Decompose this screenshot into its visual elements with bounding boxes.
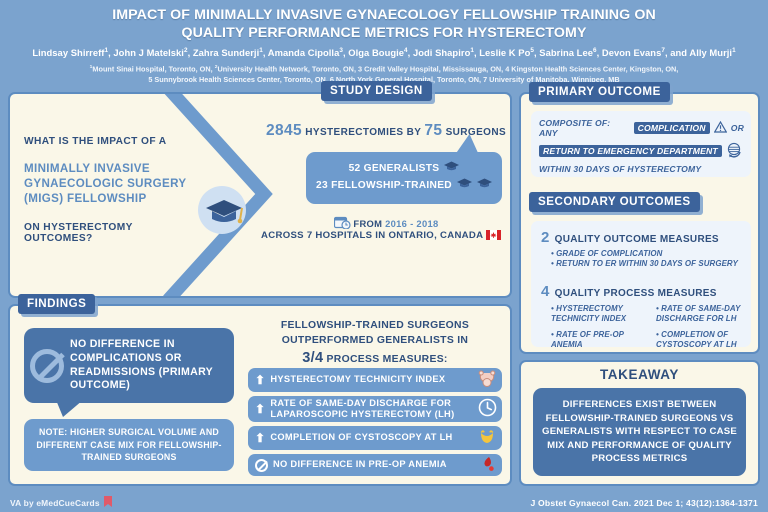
primary-outcome-box: COMPOSITE OF: ANY COMPLICATION OR RETURN…: [531, 111, 751, 177]
footer-credit: VA by eMedCueCards: [10, 496, 112, 509]
graduation-cap-icon: [477, 178, 492, 195]
generalists-row: 52 GENERALISTS: [349, 161, 460, 178]
secondary-outcomes-tab: SECONDARY OUTCOMES: [529, 192, 700, 212]
secondary-outcomes-box: 2 QUALITY OUTCOME MEASURES GRADE OF COMP…: [531, 221, 751, 347]
list-item: RETURN TO ER WITHIN 30 DAYS OF SURGERY: [551, 259, 743, 269]
study-sites: ACROSS 7 HOSPITALS IN ONTARIO, CANADA: [250, 230, 512, 243]
return-hospital-icon: [726, 142, 743, 160]
outcome-measures-title: QUALITY OUTCOME MEASURES: [555, 234, 719, 245]
list-item: COMPLETION OF CYSTOSCOPY AT LH: [656, 330, 743, 351]
poster-footer: VA by eMedCueCards J Obstet Gynaecol Can…: [0, 496, 768, 509]
bladder-icon: [476, 428, 498, 449]
surgeon-breakdown-bubble: 52 GENERALISTS 23 FELLOWSHIP-TRAINED: [306, 152, 502, 204]
poster-header: IMPACT OF MINIMALLY INVASIVE GYNAECOLOGY…: [0, 0, 768, 86]
primary-outcome-tab: PRIMARY OUTCOME: [529, 82, 670, 102]
within-30-days: WITHIN 30 DAYS OF HYSTERECTOMY: [539, 164, 701, 174]
graduation-cap-icon: [198, 186, 246, 234]
takeaway-body: DIFFERENCES EXIST BETWEEN FELLOWSHIP-TRA…: [533, 388, 746, 476]
quality-process-measures-heading: 4 QUALITY PROCESS MEASURES: [541, 283, 743, 300]
list-item: RATE OF PRE-OP ANEMIA: [551, 330, 638, 351]
measure-label: RATE OF SAME-DAY DISCHARGE FOR LAPAROSCO…: [270, 398, 471, 420]
warning-triangle-icon: [714, 121, 727, 135]
measure-label: HYSTERECTOMY TECHNICITY INDEX: [270, 374, 471, 385]
findings-heading-line-2: OUTPERFORMED GENERALISTS IN: [248, 333, 502, 348]
no-difference-text: NO DIFFERENCE IN COMPLICATIONS OR READMI…: [70, 338, 226, 393]
title-line-1: IMPACT OF MINIMALLY INVASIVE GYNAECOLOGY…: [12, 6, 756, 24]
measure-row: ⬆ COMPLETION OF CYSTOSCOPY AT LH: [248, 426, 502, 450]
list-item: HYSTERECTOMY TECHNICITY INDEX: [551, 304, 638, 325]
graduation-cap-icon: [444, 161, 459, 178]
question-emphasis: MINIMALLY INVASIVE GYNAECOLOGIC SURGERY …: [24, 162, 204, 206]
no-difference-callout: NO DIFFERENCE IN COMPLICATIONS OR READMI…: [24, 328, 234, 403]
findings-panel: FINDINGS NO DIFFERENCE IN COMPLICATIONS …: [8, 304, 512, 486]
primary-outcome-line-2: RETURN TO EMERGENCY DEPARTMENT: [539, 142, 744, 160]
author-list: Lindsay Shirreff1, John J Matelski2, Zah…: [12, 47, 756, 60]
period-years: 2016 - 2018: [385, 218, 438, 229]
blood-drop-icon: [476, 455, 498, 475]
question-lead: WHAT IS THE IMPACT OF A: [24, 136, 204, 147]
primary-outcome-line-1: COMPOSITE OF: ANY COMPLICATION OR: [539, 118, 744, 138]
study-design-tab: STUDY DESIGN: [321, 81, 432, 101]
outcome-measures-count: 2: [541, 229, 550, 246]
list-item: RATE OF SAME-DAY DISCHARGE FOR LH: [656, 304, 743, 325]
question-tail: ON HYSTERECTOMY OUTCOMES?: [24, 222, 204, 244]
fellowship-label: 23 FELLOWSHIP-TRAINED: [316, 179, 452, 194]
fellowship-row: 23 FELLOWSHIP-TRAINED: [316, 178, 492, 195]
generalists-label: 52 GENERALISTS: [349, 162, 440, 177]
study-period: FROM 2016 - 2018: [263, 216, 509, 231]
research-question: WHAT IS THE IMPACT OF A MINIMALLY INVASI…: [24, 136, 204, 244]
process-measures-count: 4: [541, 283, 550, 300]
process-measures-column-right: RATE OF SAME-DAY DISCHARGE FOR LH COMPLE…: [646, 304, 743, 351]
study-design-panel: WHAT IS THE IMPACT OF A MINIMALLY INVASI…: [8, 92, 512, 298]
arrow-up-icon: ⬆: [255, 374, 265, 386]
prohibited-icon: [30, 349, 64, 383]
process-measure-suffix: PROCESS MEASURES:: [327, 354, 448, 365]
process-measures-title: QUALITY PROCESS MEASURES: [555, 288, 717, 299]
findings-heading-line-3: 3/4 PROCESS MEASURES:: [248, 348, 502, 369]
findings-heading-line-1: FELLOWSHIP-TRAINED SURGEONS: [248, 318, 502, 333]
hysterectomy-label: HYSTERECTOMIES BY: [305, 127, 421, 138]
takeaway-panel: TAKEAWAY DIFFERENCES EXIST BETWEEN FELLO…: [519, 360, 760, 486]
findings-heading: FELLOWSHIP-TRAINED SURGEONS OUTPERFORMED…: [248, 318, 502, 369]
measure-row: NO DIFFERENCE IN PRE-OP ANEMIA: [248, 454, 502, 476]
citation: J Obstet Gynaecol Can. 2021 Dec 1; 43(12…: [530, 498, 758, 508]
list-item: GRADE OF COMPLICATION: [551, 249, 743, 259]
calendar-clock-icon: [334, 216, 351, 231]
arrow-up-icon: ⬆: [255, 432, 265, 444]
process-measures-column-left: HYSTERECTOMY TECHNICITY INDEX RATE OF PR…: [541, 304, 638, 351]
measure-label: COMPLETION OF CYSTOSCOPY AT LH: [270, 432, 471, 443]
outcomes-panel: PRIMARY OUTCOME COMPOSITE OF: ANY COMPLI…: [519, 92, 760, 354]
uterus-icon: [476, 370, 498, 391]
clock-icon: [476, 398, 498, 420]
prohibited-icon: [255, 459, 268, 472]
title-line-2: QUALITY PERFORMANCE METRICS FOR HYSTEREC…: [12, 24, 756, 42]
takeaway-title: TAKEAWAY: [521, 367, 758, 382]
measure-row: ⬆ HYSTERECTOMY TECHNICITY INDEX: [248, 368, 502, 392]
composite-prefix: COMPOSITE OF: ANY: [539, 118, 630, 138]
return-ed-highlight: RETURN TO EMERGENCY DEPARTMENT: [539, 145, 722, 157]
findings-note: NOTE: HIGHER SURGICAL VOLUME AND DIFFERE…: [24, 419, 234, 471]
quality-process-measures-list: HYSTERECTOMY TECHNICITY INDEX RATE OF PR…: [541, 304, 743, 351]
quality-outcome-measures-list: GRADE OF COMPLICATION RETURN TO ER WITHI…: [541, 249, 743, 270]
findings-tab: FINDINGS: [18, 294, 95, 314]
measure-label: NO DIFFERENCE IN PRE-OP ANEMIA: [273, 459, 471, 470]
bubble-tail: [456, 134, 484, 154]
hysterectomy-count: 2845: [266, 122, 302, 139]
period-label: FROM: [353, 218, 382, 229]
surgeon-count: 75: [424, 122, 442, 139]
complication-highlight: COMPLICATION: [634, 122, 710, 134]
footer-credit-text: VA by eMedCueCards: [10, 498, 100, 508]
sites-label: ACROSS 7 HOSPITALS IN ONTARIO, CANADA: [261, 230, 483, 241]
graduation-cap-icon: [457, 178, 472, 195]
process-measure-fraction: 3/4: [302, 350, 323, 366]
composite-or: OR: [731, 123, 744, 133]
poster-title: IMPACT OF MINIMALLY INVASIVE GYNAECOLOGY…: [12, 6, 756, 42]
affiliation-line-1: 1Mount Sinai Hospital, Toronto, ON, 2Uni…: [12, 64, 756, 75]
primary-outcome-line-3: WITHIN 30 DAYS OF HYSTERECTOMY: [539, 164, 744, 174]
measure-row: ⬆ RATE OF SAME-DAY DISCHARGE FOR LAPAROS…: [248, 396, 502, 422]
arrow-up-icon: ⬆: [255, 403, 265, 415]
canada-flag-icon: [486, 230, 501, 243]
bookmark-icon: [104, 496, 112, 509]
infographic-poster: IMPACT OF MINIMALLY INVASIVE GYNAECOLOGY…: [0, 0, 768, 512]
quality-outcome-measures-heading: 2 QUALITY OUTCOME MEASURES: [541, 229, 743, 246]
